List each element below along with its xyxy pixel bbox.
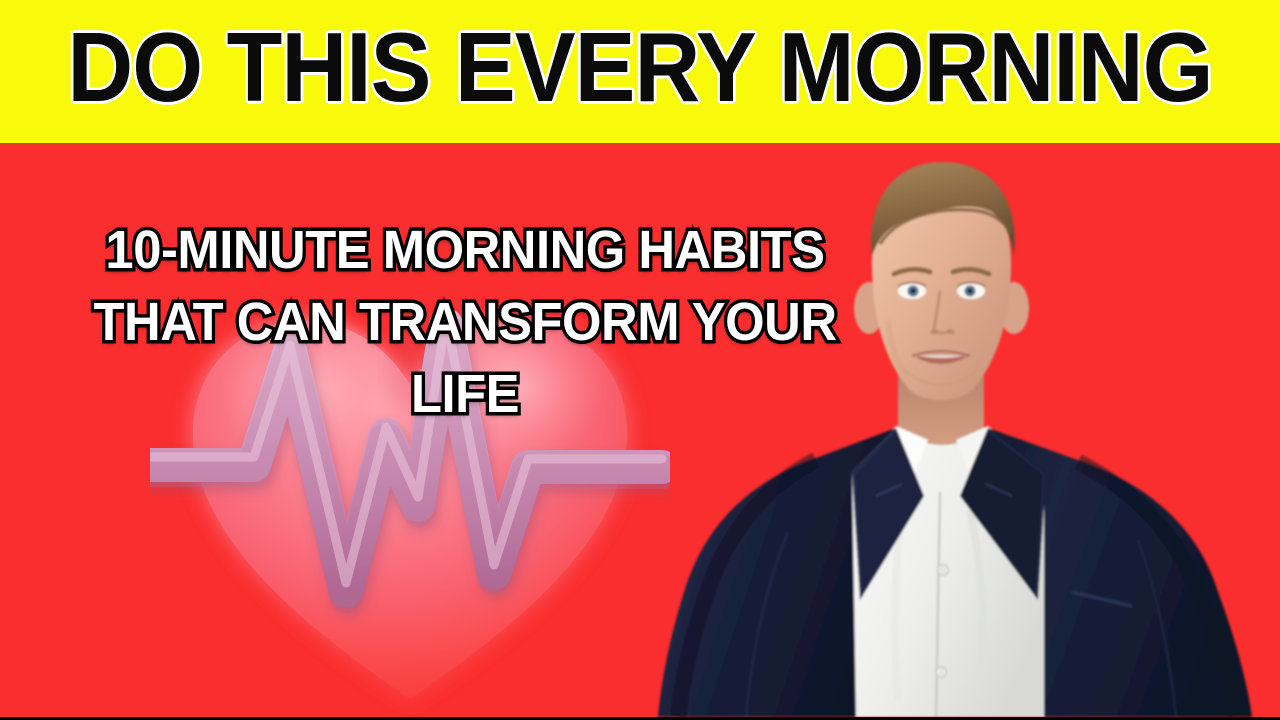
subtitle-line-3: LIFE [66, 358, 865, 430]
page-title: DO THIS EVERY MORNING [45, 17, 1235, 117]
banner-divider [0, 143, 1280, 145]
subtitle-text: 10-MINUTE MORNING HABITS THAT CAN TRANSF… [66, 214, 865, 430]
yellow-header-banner: DO THIS EVERY MORNING [0, 0, 1280, 144]
subtitle-line-2: THAT CAN TRANSFORM YOUR [66, 286, 865, 358]
shirt-button [938, 565, 949, 576]
thumbnail-canvas: 10-MINUTE MORNING HABITS THAT CAN TRANSF… [0, 0, 1280, 720]
shirt-button [936, 667, 947, 678]
subtitle-line-1: 10-MINUTE MORNING HABITS [66, 214, 865, 286]
